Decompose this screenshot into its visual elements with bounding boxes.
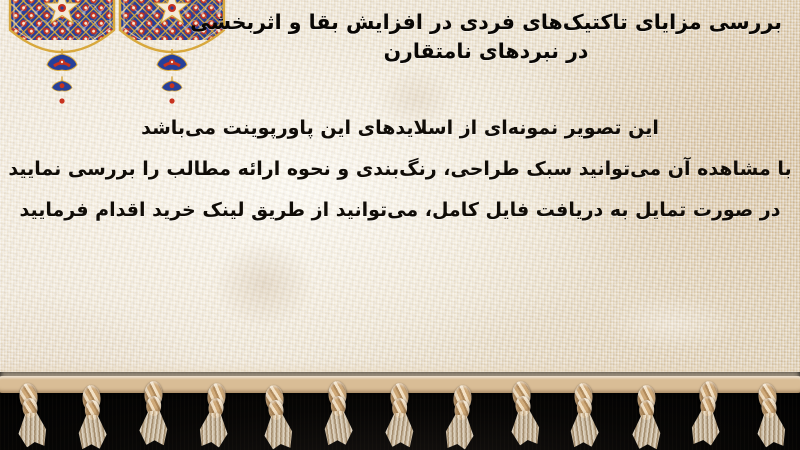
slide-body-line-1: این تصویر نمونه‌ای از اسلایدهای این پاور… <box>0 108 800 149</box>
fringe-tassel-skirt <box>689 410 723 446</box>
fringe-tassel <box>195 382 234 447</box>
fringe-tassel <box>74 385 110 448</box>
fringe-tassel-skirt <box>630 415 662 450</box>
presentation-slide: بررسی مزایای تاکتیک‌های فردی در افزایش ب… <box>0 0 800 450</box>
fringe-tassel <box>749 382 788 447</box>
fringe-tassel-skirt <box>508 410 542 446</box>
fringe-tassel <box>503 380 542 445</box>
fringe-tassel <box>688 380 727 445</box>
fringe-tassel <box>566 383 602 446</box>
fringe-tassel-skirt <box>569 413 601 448</box>
fringe-tassel <box>441 384 480 449</box>
slide-body-line-3: در صورت تمایل به دریافت فایل کامل، می‌تو… <box>0 190 800 231</box>
fringe-tassel <box>135 381 171 444</box>
slide-title-line-2: نبردهای نامتقارن <box>384 39 559 63</box>
fringe-tassel-skirt <box>443 414 477 450</box>
fringe-tassel <box>628 385 664 448</box>
fringe-tassel <box>320 381 356 444</box>
slide-body-line-2: با مشاهده آن می‌توانید سبک طراحی، رنگ‌بن… <box>0 149 800 190</box>
slide-title: بررسی مزایای تاکتیک‌های فردی در افزایش ب… <box>186 8 786 66</box>
fringe-tassel-skirt <box>261 414 295 450</box>
fringe-tassel <box>382 383 418 446</box>
slide-body: این تصویر نمونه‌ای از اسلایدهای این پاور… <box>0 108 800 231</box>
carpet-fringe-band <box>0 362 800 450</box>
fringe-tassel-skirt <box>197 412 231 448</box>
fringe-tassel-skirt <box>15 412 49 448</box>
fringe-tassel-skirt <box>323 411 355 446</box>
fringe-tassel-skirt <box>137 411 169 446</box>
fringe-tassel-skirt <box>754 412 788 448</box>
fringe-tassel <box>257 384 296 449</box>
persian-illumination-medallion-icon <box>8 0 116 112</box>
fringe-tassel-skirt <box>77 415 109 450</box>
fringe-tassel <box>11 382 50 447</box>
fringe-tassel-skirt <box>384 413 416 448</box>
